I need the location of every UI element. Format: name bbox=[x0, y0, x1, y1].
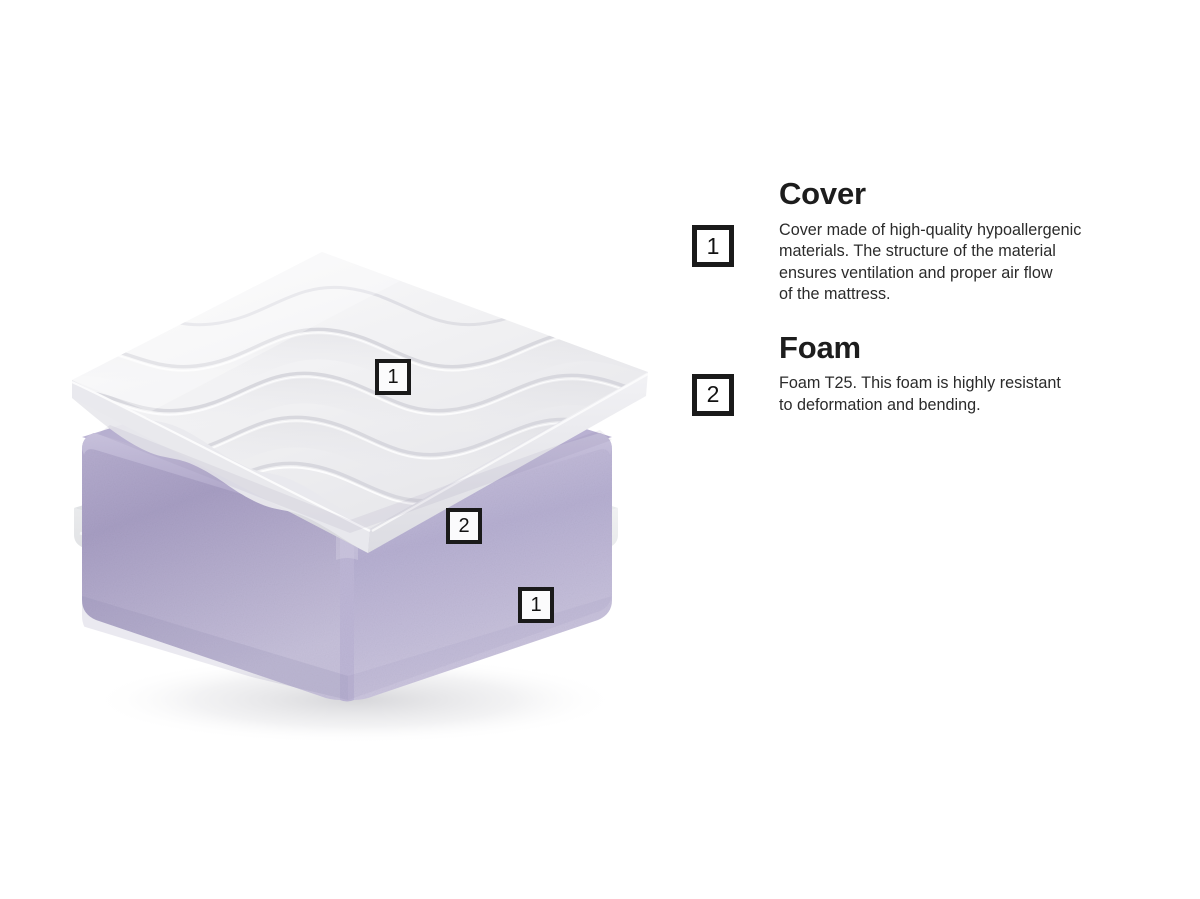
marker-cover-number: 1 bbox=[387, 367, 398, 387]
marker-base-cover-number: 1 bbox=[530, 595, 541, 615]
legend-badge-foam-number: 2 bbox=[707, 383, 720, 406]
marker-cover-layer[interactable]: 1 bbox=[375, 359, 411, 395]
legend-text-foam: Foam Foam T25. This foam is highly resis… bbox=[779, 332, 1151, 417]
legend-text-cover: Cover Cover made of high-quality hypoall… bbox=[779, 178, 1151, 306]
legend-body-foam: Foam T25. This foam is highly resistant … bbox=[779, 373, 1151, 416]
mattress-svg bbox=[0, 0, 700, 899]
legend-title-cover: Cover bbox=[779, 178, 1151, 211]
marker-foam-layer[interactable]: 2 bbox=[446, 508, 482, 544]
mattress-illustration: 1 2 1 bbox=[0, 0, 700, 899]
legend-badge-foam[interactable]: 2 bbox=[692, 374, 734, 416]
marker-foam-number: 2 bbox=[458, 516, 469, 536]
legend-entry-cover: 1 Cover Cover made of high-quality hypoa… bbox=[692, 178, 1172, 306]
legend-title-foam: Foam bbox=[779, 332, 1151, 365]
legend-entry-foam: 2 Foam Foam T25. This foam is highly res… bbox=[692, 332, 1172, 417]
legend-badge-cover[interactable]: 1 bbox=[692, 225, 734, 267]
legend-panel: 1 Cover Cover made of high-quality hypoa… bbox=[692, 178, 1172, 416]
legend-badge-cover-number: 1 bbox=[707, 235, 720, 258]
marker-base-cover-layer[interactable]: 1 bbox=[518, 587, 554, 623]
legend-body-cover: Cover made of high-quality hypoallergeni… bbox=[779, 220, 1151, 306]
